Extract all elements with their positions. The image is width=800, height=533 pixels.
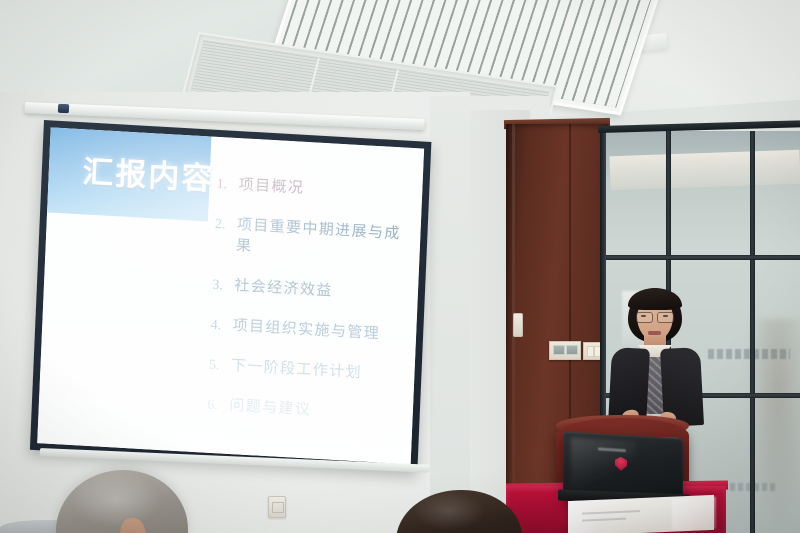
list-item-number: 1. <box>216 177 239 194</box>
list-item-number: 2. <box>215 217 238 234</box>
glass-signage-text-blur <box>708 349 790 359</box>
door-release-button[interactable] <box>513 313 523 337</box>
projection-screen: 汇报内容 1. 项目概况 2. 项目重要中期进展与成果 3. 社会经济效益 <box>30 120 432 472</box>
glass-upper-panes <box>600 131 800 259</box>
list-item-label: 项目重要中期进展与成果 <box>236 213 410 265</box>
list-item: 4. 项目组织实施与管理 <box>210 313 405 345</box>
screen-frame: 汇报内容 1. 项目概况 2. 项目重要中期进展与成果 3. 社会经济效益 <box>30 120 432 472</box>
list-item-label: 社会经济效益 <box>234 274 333 301</box>
data-port-1 <box>587 346 594 357</box>
presentation-room-photo: 汇报内容 1. 项目概况 2. 项目重要中期进展与成果 3. 社会经济效益 <box>0 0 800 533</box>
power-socket[interactable] <box>268 496 286 518</box>
mullion-horizontal-1 <box>600 255 800 260</box>
light-switch-plate[interactable] <box>549 341 581 360</box>
switch-rocker-2[interactable] <box>566 345 578 355</box>
projected-slide: 汇报内容 1. 项目概况 2. 项目重要中期进展与成果 3. 社会经济效益 <box>37 127 424 464</box>
list-item: 3. 社会经济效益 <box>212 273 407 305</box>
screen-roller-knob[interactable] <box>58 104 69 113</box>
screen-canvas: 汇报内容 1. 项目概况 2. 项目重要中期进展与成果 3. 社会经济效益 <box>37 127 424 464</box>
plastic-wrapped-document-stack[interactable] <box>568 495 714 533</box>
list-item-label: 项目概况 <box>238 173 304 198</box>
list-item-number: 4. <box>210 318 233 335</box>
list-item-number: 5. <box>209 357 232 374</box>
list-item: 5. 下一阶段工作计划 <box>209 352 404 384</box>
presenter-mouth <box>648 331 661 335</box>
list-item-number: 3. <box>212 278 235 295</box>
mullion-vertical-2 <box>750 131 755 533</box>
plastic-crinkle <box>672 497 716 531</box>
glass-reflection <box>609 150 800 191</box>
presenter-hair-fringe <box>628 288 682 310</box>
list-item-number: 6. <box>207 397 230 414</box>
list-item: 1. 项目概况 <box>216 172 411 204</box>
slide-agenda-list: 1. 项目概况 2. 项目重要中期进展与成果 3. 社会经济效益 4. <box>206 172 411 444</box>
eyeglasses-icon <box>636 312 674 321</box>
list-item: 2. 项目重要中期进展与成果 <box>214 212 410 265</box>
list-item-label: 问题与建议 <box>229 394 312 420</box>
slide-title: 汇报内容 <box>82 147 216 199</box>
list-item-label: 下一阶段工作计划 <box>231 354 363 382</box>
list-item-label: 项目组织实施与管理 <box>232 314 380 343</box>
list-item: 6. 问题与建议 <box>207 392 402 424</box>
switch-rocker-1[interactable] <box>553 345 565 355</box>
